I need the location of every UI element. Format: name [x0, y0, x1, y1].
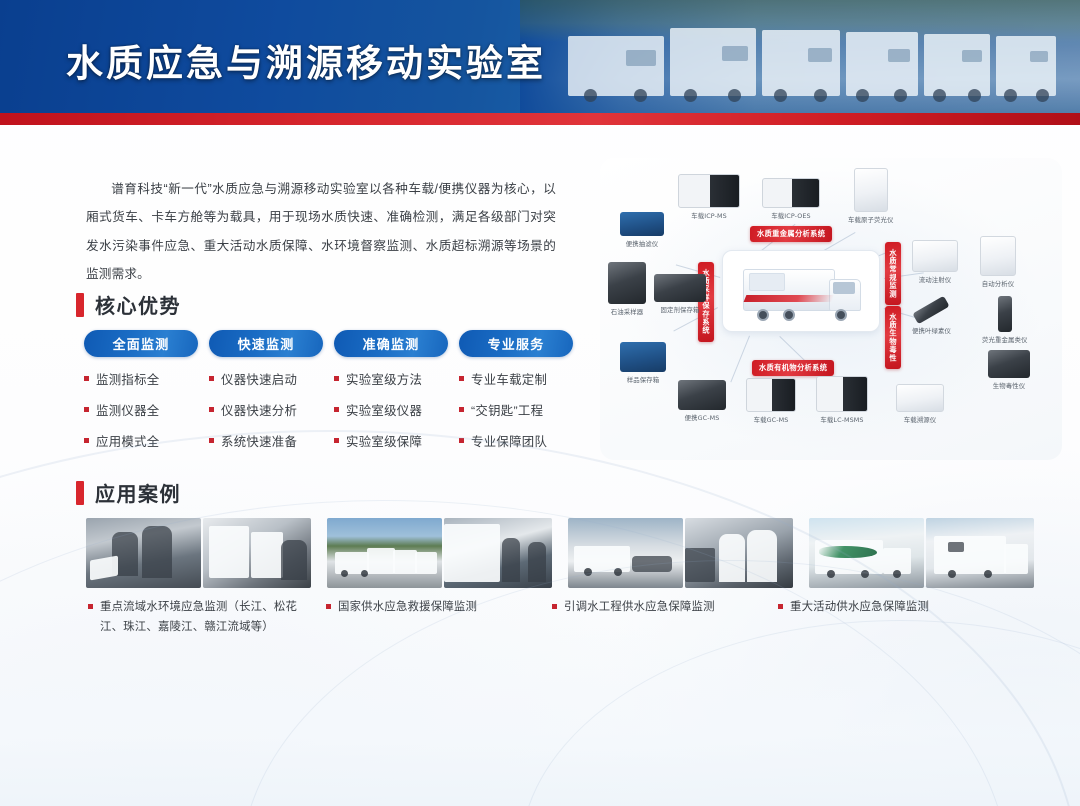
banner-photo-fleet: [520, 0, 1080, 113]
mobile-lab-vehicle-illustration: [722, 250, 880, 332]
advantage-pill-row: 全面监测 快速监测 准确监测 专业服务: [84, 330, 573, 357]
advantage-item: “交钥匙”工程: [459, 401, 573, 419]
advantage-item-label: 专业车载定制: [471, 370, 547, 388]
case-photo-strip: [86, 518, 1020, 588]
section-heading-advantages: 核心优势: [76, 290, 181, 319]
advantage-item: 实验室级方法: [334, 370, 448, 388]
instrument-flow-injection: 流动注射仪: [912, 240, 958, 284]
banner-truck: [846, 32, 918, 96]
section-heading-cases: 应用案例: [76, 478, 181, 507]
system-architecture-diagram: 水质重金属分析系统 水质有机物分析系统 水质采样保存系统 水质常规监测 水质生物…: [600, 158, 1062, 460]
advantage-item-label: 系统快速准备: [221, 432, 297, 450]
instrument-atomic-fluorescence: 车载原子荧光仪: [848, 168, 893, 224]
instrument-auto-analyzer: 自动分析仪: [980, 236, 1016, 288]
banner-highlight-stripe: [0, 125, 1080, 128]
case-photo-group-1: [327, 518, 552, 588]
advantage-item: 应用模式全: [84, 432, 198, 450]
bullet-square-icon: [209, 438, 214, 443]
case-photo-vehicle-fleet-lineup[interactable]: [327, 518, 442, 588]
advantage-item-label: 监测指标全: [96, 370, 159, 388]
instrument-label: 自动分析仪: [980, 279, 1016, 288]
case-photo-white-mobile-lab-truck[interactable]: [926, 518, 1034, 588]
page-title: 水质应急与溯源移动实验室: [66, 33, 546, 87]
instrument-label: 车载ICP-OES: [762, 211, 820, 220]
case-photo-field-staff-briefing[interactable]: [444, 518, 552, 588]
instrument-label: 样品保存箱: [620, 375, 666, 384]
case-photo-group-2: [568, 518, 793, 588]
case-caption-label: 国家供水应急救援保障监测: [338, 598, 477, 618]
instrument-icp-oes: 车载ICP-OES: [762, 178, 820, 220]
instrument-biotoxicity: 生物毒性仪: [988, 350, 1030, 390]
banner-truck: [568, 36, 664, 96]
advantage-item-label: 仪器快速分析: [221, 401, 297, 419]
bullet-square-icon: [326, 604, 331, 609]
instrument-icp-ms: 车载ICP-MS: [678, 174, 740, 220]
case-photo-technicians-in-lab[interactable]: [685, 518, 793, 588]
instrument-label: 车载溯源仪: [896, 415, 944, 424]
instrument-label: 荧光重金属类仪: [982, 335, 1027, 344]
advantage-item: 实验室级保障: [334, 432, 448, 450]
advantage-item-label: 监测仪器全: [96, 401, 159, 419]
instrument-label: 车载ICP-MS: [678, 211, 740, 220]
banner-red-stripe: [0, 113, 1080, 125]
advantage-item: 监测指标全: [84, 370, 198, 388]
advantage-item: 系统快速准备: [209, 432, 323, 450]
advantage-item: 仪器快速启动: [209, 370, 323, 388]
bullet-square-icon: [88, 604, 93, 609]
advantages-heading-label: 核心优势: [95, 290, 181, 319]
case-caption-label: 重点流域水环境应急监测（长江、松花江、珠江、嘉陵江、赣江流域等）: [100, 598, 303, 638]
advantage-item: 实验室级仪器: [334, 401, 448, 419]
case-caption-label: 重大活动供水应急保障监测: [790, 598, 929, 618]
poster-page: 水质应急与溯源移动实验室 谱育科技“新一代”水质应急与溯源移动实验室以各种车载/…: [0, 0, 1080, 806]
advantage-item-label: 仪器快速启动: [221, 370, 297, 388]
heading-accent-bar: [76, 481, 84, 505]
bullet-square-icon: [459, 407, 464, 412]
instrument-label: 石油采样器: [608, 307, 646, 316]
case-photo-lab-instrument-operator[interactable]: [203, 518, 311, 588]
bullet-square-icon: [778, 604, 783, 609]
bullet-square-icon: [84, 376, 89, 381]
instrument-sample-cooler: 样品保存箱: [620, 342, 666, 384]
case-caption-0: 重点流域水环境应急监测（长江、松花江、珠江、嘉陵江、赣江流域等）: [88, 598, 303, 638]
advantage-item: 仪器快速分析: [209, 401, 323, 419]
advantage-column-1: 仪器快速启动 仪器快速分析 系统快速准备: [209, 370, 323, 463]
instrument-vehicle-lc-msms: 车载LC-MSMS: [816, 376, 868, 424]
instrument-label: 流动注射仪: [912, 275, 958, 284]
bullet-square-icon: [334, 438, 339, 443]
case-caption-1: 国家供水应急救援保障监测: [326, 598, 531, 618]
advantage-item-label: 应用模式全: [96, 432, 159, 450]
banner-truck: [924, 34, 990, 96]
instrument-traceability: 车载溯源仪: [896, 384, 944, 424]
banner-truck: [670, 28, 756, 96]
cases-heading-label: 应用案例: [95, 478, 181, 507]
advantage-item: 专业保障团队: [459, 432, 573, 450]
decorative-arc: [520, 620, 1080, 806]
instrument-label: 车载原子荧光仪: [848, 215, 893, 224]
case-photo-group-0: [86, 518, 311, 588]
bullet-square-icon: [334, 376, 339, 381]
bullet-square-icon: [459, 376, 464, 381]
bullet-square-icon: [552, 604, 557, 609]
advantage-item: 监测仪器全: [84, 401, 198, 419]
instrument-label: 固定剂保存箱: [654, 305, 706, 314]
banner-truck: [996, 36, 1056, 96]
advantage-column-3: 专业车载定制 “交钥匙”工程 专业保障团队: [459, 370, 573, 463]
case-photo-group-3: [809, 518, 1034, 588]
advantage-pill-1[interactable]: 快速监测: [209, 330, 323, 357]
bullet-square-icon: [334, 407, 339, 412]
decorative-arc: [240, 560, 1080, 806]
instrument-label: 生物毒性仪: [988, 381, 1030, 390]
diagram-badge-heavy-metal: 水质重金属分析系统: [750, 226, 832, 242]
diagram-badge-routine: 水质常规监测: [885, 242, 901, 305]
case-photo-green-stripe-truck[interactable]: [809, 518, 924, 588]
instrument-vehicle-gc-ms: 车载GC-MS: [746, 378, 796, 424]
instrument-fluorescence-metal: 荧光重金属类仪: [982, 296, 1027, 344]
bullet-square-icon: [84, 438, 89, 443]
case-caption-3: 重大活动供水应急保障监测: [778, 598, 993, 618]
bullet-square-icon: [84, 407, 89, 412]
instrument-label: 车载LC-MSMS: [816, 415, 868, 424]
instrument-chlorophyll-meter: 便携叶绿素仪: [912, 304, 951, 335]
bullet-square-icon: [209, 376, 214, 381]
heading-accent-bar: [76, 293, 84, 317]
advantage-columns: 监测指标全 监测仪器全 应用模式全 仪器快速启动 仪器快速分析 系统快速准备 实…: [84, 370, 573, 463]
advantage-item-label: 实验室级方法: [346, 370, 422, 388]
header-banner: 水质应急与溯源移动实验室: [0, 0, 1080, 113]
advantage-item-label: 实验室级保障: [346, 432, 422, 450]
advantage-pill-3[interactable]: 专业服务: [459, 330, 573, 357]
bullet-square-icon: [209, 407, 214, 412]
case-photo-mobile-lab-truck-site[interactable]: [568, 518, 683, 588]
instrument-label: 便携叶绿素仪: [912, 326, 951, 335]
case-caption-2: 引调水工程供水应急保障监测: [552, 598, 767, 618]
instrument-portable-filter: 便携抽滤仪: [620, 212, 664, 248]
advantage-item-label: “交钥匙”工程: [471, 401, 543, 419]
diagram-badge-organic: 水质有机物分析系统: [752, 360, 834, 376]
diagram-badge-biotoxicity: 水质生物毒性: [885, 306, 901, 369]
case-caption-label: 引调水工程供水应急保障监测: [564, 598, 715, 618]
bottom-gradient-wash: [0, 626, 1080, 806]
intro-paragraph: 谱育科技“新一代”水质应急与溯源移动实验室以各种车载/便携仪器为核心，以厢式货车…: [86, 175, 556, 288]
advantage-column-2: 实验室级方法 实验室级仪器 实验室级保障: [334, 370, 448, 463]
advantage-item-label: 实验室级仪器: [346, 401, 422, 419]
instrument-portable-gc-ms: 便携GC-MS: [678, 380, 726, 422]
instrument-label: 车载GC-MS: [746, 415, 796, 424]
instrument-oil-sampler: 石油采样器: [608, 262, 646, 316]
advantage-column-0: 监测指标全 监测仪器全 应用模式全: [84, 370, 198, 463]
advantage-pill-0[interactable]: 全面监测: [84, 330, 198, 357]
instrument-label: 便携GC-MS: [678, 413, 726, 422]
advantage-pill-2[interactable]: 准确监测: [334, 330, 448, 357]
bullet-square-icon: [459, 438, 464, 443]
advantage-item: 专业车载定制: [459, 370, 573, 388]
instrument-label: 便携抽滤仪: [620, 239, 664, 248]
case-photo-lab-monitoring-team[interactable]: [86, 518, 201, 588]
banner-truck: [762, 30, 840, 96]
instrument-fixative-case: 固定剂保存箱: [654, 274, 706, 314]
advantage-item-label: 专业保障团队: [471, 432, 547, 450]
